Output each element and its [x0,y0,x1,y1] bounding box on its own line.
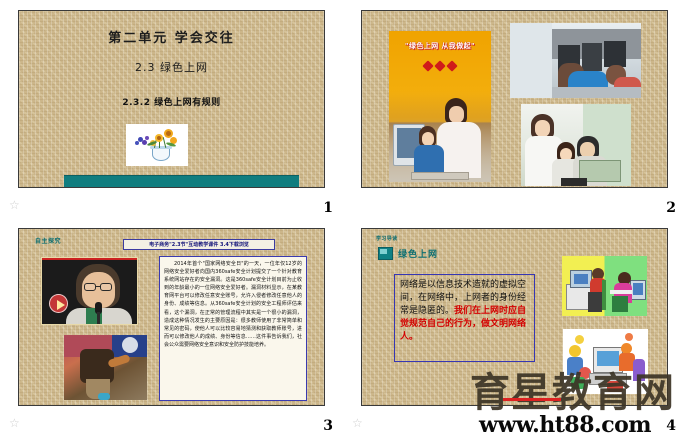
slide-1-title: 第二单元 学会交往 [19,27,324,46]
family-laptop-photo: 绿色健康上网 一家人的平安 [521,104,631,186]
slide-4-section-heading: 绿色上网 [378,247,438,260]
slide-3-title-box: 电子商务"2.3节"互动教学课件 3.4下载浏览 [123,239,275,250]
green-internet-poster: "绿色上网 从我做起" [389,31,491,182]
slide-1-page-number: 1 [323,201,333,215]
slide-4-star-mark: ☆ [352,417,363,429]
slide-1-subtitle: 2.3 绿色上网 [19,59,324,75]
slide-3-page-number: 3 [323,419,333,433]
crowd-computer-cartoon [563,329,648,394]
slide-4-kicker: 学习导读 [376,235,398,242]
flower-vase-image [126,124,188,166]
poster-headline: "绿色上网 从我做起" [389,41,491,51]
chinese-knot-icons [389,55,491,74]
slide-3-header-label: 自主探究 [35,236,61,245]
section-marker-icon [378,247,393,260]
slide-cell-1: 第二单元 学会交往 2.3 绿色上网 2.3.2 绿色上网有规则 [0,0,343,217]
slide-1-star-mark: ☆ [9,199,20,211]
student-backpack-photo [64,335,147,400]
slide-3-star-mark: ☆ [9,417,20,429]
slide-1-subsubtitle: 2.3.2 绿色上网有规则 [19,95,324,108]
poster-photo-mother-daughter [389,90,491,182]
two-people-computers-cartoon [562,256,647,316]
computer-lab-photo [510,23,641,98]
slide-1-footer-bar [64,175,299,187]
slide-cell-4: 学习导读 绿色上网 网络是以信息技术造就的虚拟空间，在网络中，上网者的身份经常是… [343,218,686,435]
slide-cell-2: "绿色上网 从我做起" [343,0,686,217]
slide-3-paragraph: 2014年首个"国家网络安全日"的一天，一位年仅12岁的网络安全爱好者向国内36… [164,260,302,349]
handout-page: 第二单元 学会交往 2.3 绿色上网 2.3.2 绿色上网有规则 [0,0,686,435]
slide-2[interactable]: "绿色上网 从我做起" [361,10,668,188]
slide-1[interactable]: 第二单元 学会交往 2.3 绿色上网 2.3.2 绿色上网有规则 [18,10,325,188]
slide-3[interactable]: 自主探究 电子商务"2.3节"互动教学课件 3.4下载浏览 [18,228,325,406]
slide-2-page-number: 2 [666,201,676,215]
slide-3-body-text: 2014年首个"国家网络安全日"的一天，一位年仅12岁的网络安全爱好者向国内36… [159,256,307,401]
slide-4[interactable]: 学习导读 绿色上网 网络是以信息技术造就的虚拟空间，在网络中，上网者的身份经常是… [361,228,668,406]
play-icon[interactable] [49,294,68,313]
slide-4-page-number: 4 [666,419,676,433]
slide-4-section-title: 绿色上网 [398,247,438,260]
embedded-video-player[interactable] [41,257,138,325]
slide-4-body-box: 网络是以信息技术造就的虚拟空间，在网络中，上网者的身份经常是隐匿的。我们在上网时… [394,274,535,362]
video-top-strip [42,258,137,260]
slide-cell-3: 自主探究 电子商务"2.3节"互动教学课件 3.4下载浏览 [0,218,343,435]
